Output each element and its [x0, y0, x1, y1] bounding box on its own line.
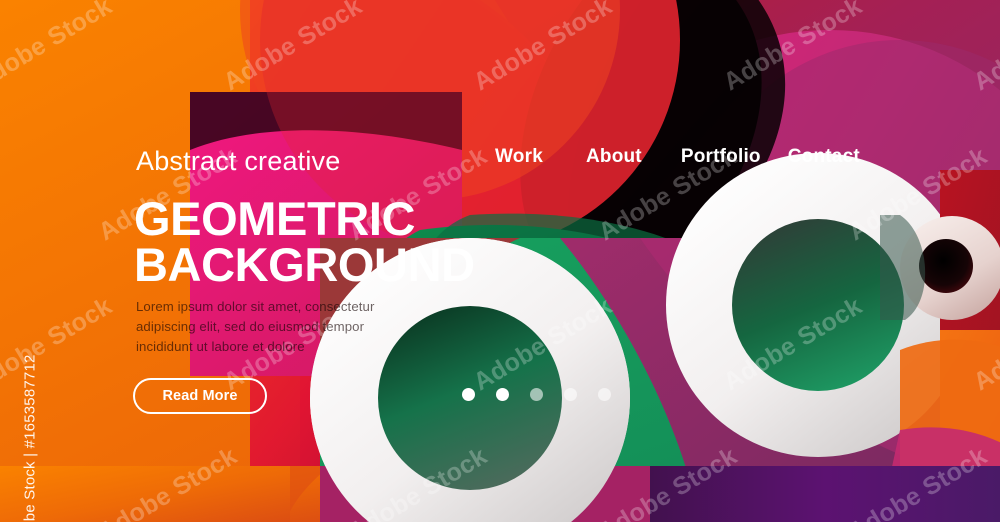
nav-item-about[interactable]: About	[586, 146, 642, 168]
carousel-dot-1[interactable]	[462, 388, 475, 401]
hero-headline: GEOMETRIC BACKGROUND	[134, 196, 475, 287]
read-more-button[interactable]: Read More	[133, 378, 267, 414]
nav-item-portfolio[interactable]: Portfolio	[681, 146, 761, 168]
hero-body-line-1: Lorem ipsum dolor sit amet, consectetur	[136, 297, 374, 317]
carousel-dot-5[interactable]	[598, 388, 611, 401]
carousel-dot-3[interactable]	[530, 388, 543, 401]
hero-body-line-3: incididunt ut labore et dolore	[136, 337, 374, 357]
main-navigation: Work About Portfolio Contact	[495, 146, 860, 168]
carousel-pagination-dots	[462, 388, 611, 401]
hero-eyebrow: Abstract creative	[136, 148, 340, 175]
carousel-dot-2[interactable]	[496, 388, 509, 401]
hero-body-line-2: adipiscing elit, sed do eiusmod tempor	[136, 317, 374, 337]
hero-headline-line2: BACKGROUND	[134, 242, 475, 288]
hero-content: Abstract creative GEOMETRIC BACKGROUND L…	[0, 0, 1000, 522]
carousel-dot-4[interactable]	[564, 388, 577, 401]
nav-item-contact[interactable]: Contact	[788, 146, 860, 168]
hero-body-copy: Lorem ipsum dolor sit amet, consectetura…	[136, 297, 374, 357]
nav-item-work[interactable]: Work	[495, 146, 543, 168]
landing-page-hero: Adobe StockAdobe StockAdobe StockAdobe S…	[0, 0, 1000, 522]
